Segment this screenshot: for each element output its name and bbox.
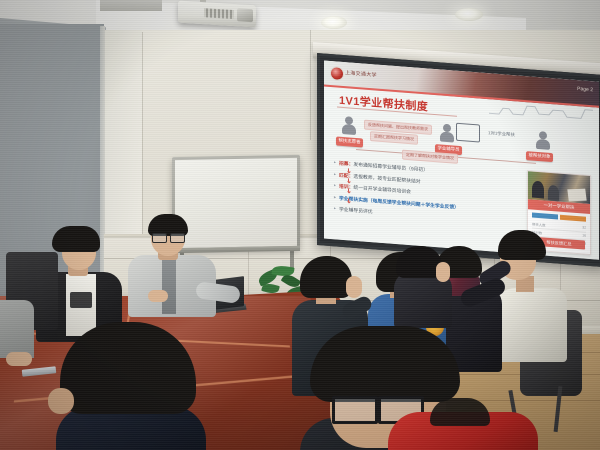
jacket-zipper (162, 256, 176, 314)
bullet-text: 选拔教师，按专业匹配帮扶结对 (353, 174, 420, 184)
projection-screen: 上海交通大学 Page 2 1V1学业帮扶制度 帮扶志愿者 (317, 53, 600, 267)
hair (430, 398, 490, 426)
meeting-room-photo: 上海交通大学 Page 2 1V1学业帮扶制度 帮扶志愿者 (0, 0, 600, 450)
white-tshirt (495, 288, 567, 362)
hand (148, 290, 168, 302)
bullet-text: 发布通知招募学业辅导员（9月初） (353, 163, 428, 174)
eyeglasses-icon (152, 233, 167, 243)
hand (6, 352, 32, 366)
hair (300, 256, 352, 298)
university-seal-icon (330, 66, 344, 81)
flow-actor-label: 帮扶志愿者 (336, 136, 363, 147)
downlight-2-icon (455, 8, 483, 21)
grey-sleeve (0, 300, 34, 358)
ceiling-projector (178, 1, 256, 28)
bullet-key: 招募： (339, 162, 353, 168)
hair (310, 326, 460, 402)
projector-vent-icon (204, 8, 234, 19)
ceiling-air-vent (100, 0, 162, 11)
bullet-key: 学业帮扶实施 (339, 196, 368, 203)
hair (52, 226, 100, 252)
figure-counselor-icon (440, 123, 454, 142)
figure-volunteer-icon (342, 116, 356, 135)
eyeglasses-icon (332, 396, 378, 424)
whiteboard-surface (175, 158, 297, 248)
ear (48, 388, 74, 414)
stat-label: 帮扶人数 (532, 222, 546, 228)
tee-graphic (70, 292, 92, 308)
bullet-key: 学业辅导员评优 (339, 208, 373, 216)
bullet-text: 统一召开学业辅导员培训会 (353, 186, 411, 195)
slide-page-number: Page 2 (577, 86, 593, 93)
downlight-1-icon (321, 16, 347, 29)
face-profile (436, 262, 450, 282)
presentation-slide: 上海交通大学 Page 2 1V1学业帮扶制度 帮扶志愿者 (324, 61, 599, 260)
mobile-whiteboard (172, 155, 300, 251)
flow-actor-label: 被帮扶对象 (526, 151, 553, 162)
slide-bullet-list: 招募：发布通知招募学业辅导员（9月初） 匹配：选拔教师，按专业匹配帮扶结对 培训… (334, 159, 504, 230)
wall-seam (310, 30, 311, 140)
figure-student-icon (536, 131, 550, 150)
teaching-board-icon (456, 123, 480, 143)
projector-lens-icon (237, 8, 253, 22)
bullet-key: 培训： (339, 185, 353, 191)
bullet-key: 匹配： (339, 173, 353, 179)
stat-value: 32 (582, 225, 586, 230)
eyeglasses-icon (170, 233, 185, 243)
face-profile (346, 276, 362, 298)
screen-surface: 上海交通大学 Page 2 1V1学业帮扶制度 帮扶志愿者 (324, 61, 599, 260)
flow-connector-label: 1对1学业帮扶 (488, 130, 515, 138)
stat-value: 16 (582, 233, 586, 238)
